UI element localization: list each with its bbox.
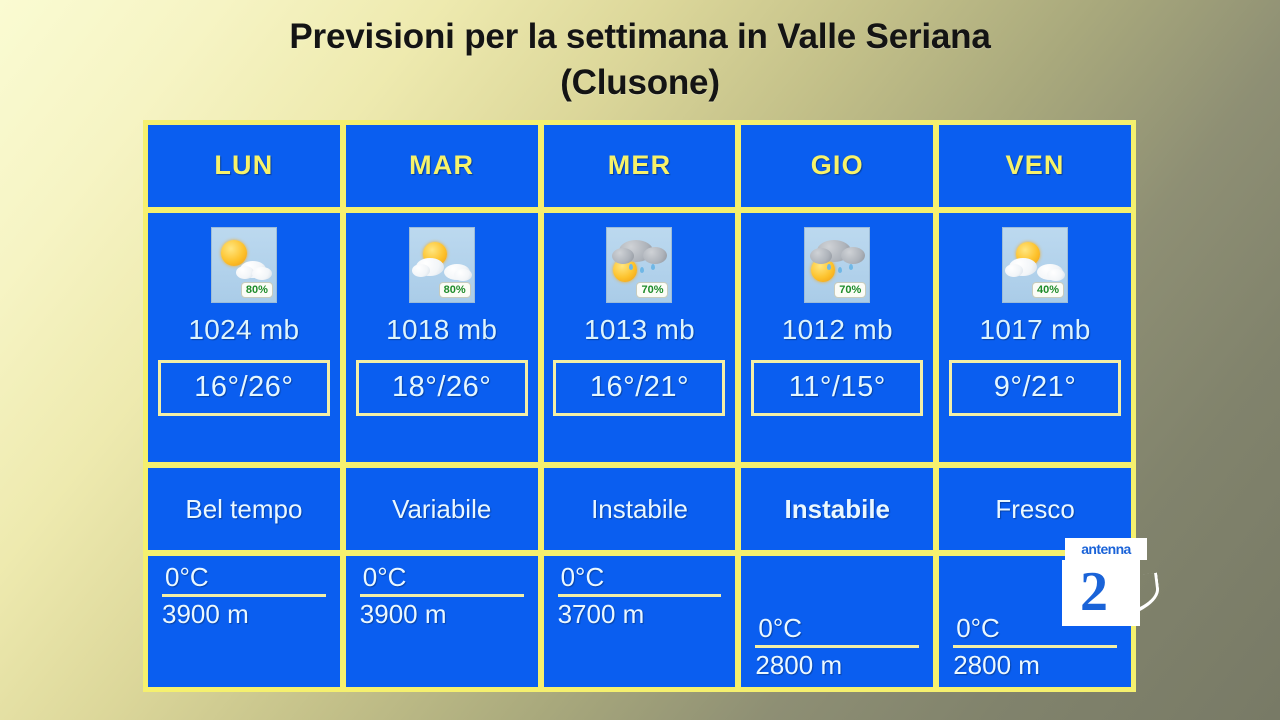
- day-header-cell-mar[interactable]: MAR: [346, 125, 538, 207]
- day-header-row: LUN MAR MER GIO VEN: [148, 125, 1131, 207]
- conditions-row: 80% 1024 mb 16°/26° 80% 1018 mb 18°/26°: [148, 213, 1131, 463]
- sun-shape: [221, 240, 247, 266]
- freezing-level-altitude: 3700 m: [558, 599, 722, 630]
- page-title-line-2: (Clusone): [0, 60, 1280, 106]
- day-header-cell-lun[interactable]: LUN: [148, 125, 340, 207]
- description-label: Bel tempo: [185, 494, 302, 525]
- description-label: Instabile: [785, 494, 890, 525]
- freezing-level-altitude: 2800 m: [755, 650, 919, 681]
- pressure-label: 1013 mb: [584, 314, 695, 346]
- conditions-cell-lun: 80% 1024 mb 16°/26°: [148, 213, 340, 463]
- raindrop-shape: [838, 267, 842, 273]
- day-name-label: MER: [608, 150, 672, 181]
- freezing-level-temp: 0°C: [558, 562, 722, 593]
- description-label: Fresco: [995, 494, 1074, 525]
- sun-behind-clouds-icon: 80%: [409, 227, 475, 303]
- raindrop-shape: [640, 267, 644, 273]
- cloud-shape: [643, 247, 667, 264]
- freezing-level-cell-lun: 0°C 3900 m: [148, 556, 340, 687]
- precipitation-badge: 40%: [1032, 282, 1064, 298]
- description-cell-mer: Instabile: [544, 468, 736, 550]
- temperature-box: 9°/21°: [949, 360, 1121, 416]
- divider-rule: [953, 645, 1117, 648]
- freezing-level-cell-mar: 0°C 3900 m: [346, 556, 538, 687]
- precipitation-badge: 70%: [636, 282, 668, 298]
- temperature-box: 16°/26°: [158, 360, 330, 416]
- precipitation-badge: 80%: [241, 282, 273, 298]
- freezing-level-row: 0°C 3900 m 0°C 3900 m 0°C 3700 m 0°C: [148, 556, 1131, 687]
- cloud-shape: [810, 248, 832, 264]
- sun-behind-rain-cloud-icon: 70%: [804, 227, 870, 303]
- freezing-level-temp: 0°C: [360, 562, 524, 593]
- freezing-level-altitude: 2800 m: [953, 650, 1117, 681]
- sun-behind-clouds-icon: 40%: [1002, 227, 1068, 303]
- precipitation-badge: 80%: [439, 282, 471, 298]
- cloud-shape: [1005, 264, 1023, 277]
- freezing-level-stack: 0°C 2800 m: [755, 613, 919, 681]
- conditions-cell-mar: 80% 1018 mb 18°/26°: [346, 213, 538, 463]
- day-header-cell-mer[interactable]: MER: [544, 125, 736, 207]
- pressure-label: 1017 mb: [980, 314, 1091, 346]
- raindrop-shape: [849, 264, 853, 270]
- freezing-level-altitude: 3900 m: [162, 599, 326, 630]
- divider-rule: [558, 594, 722, 597]
- temperature-label: 16°/26°: [194, 371, 293, 404]
- temperature-label: 11°/15°: [789, 371, 886, 404]
- day-name-label: GIO: [811, 150, 864, 181]
- conditions-cell-mer: 70% 1013 mb 16°/21°: [544, 213, 736, 463]
- freezing-level-stack: 0°C 3900 m: [360, 562, 524, 630]
- sun-behind-rain-cloud-icon: 70%: [606, 227, 672, 303]
- freezing-level-temp: 0°C: [162, 562, 326, 593]
- temperature-label: 18°/26°: [392, 371, 491, 404]
- pressure-label: 1018 mb: [386, 314, 497, 346]
- temperature-box: 18°/26°: [356, 360, 528, 416]
- antenna-wordmark-label: antenna: [1065, 538, 1147, 560]
- day-header-cell-gio[interactable]: GIO: [741, 125, 933, 207]
- freezing-level-cell-gio: 0°C 2800 m: [741, 556, 933, 687]
- day-name-label: VEN: [1006, 150, 1065, 181]
- antenna-2-logo: antenna 2: [1062, 538, 1158, 626]
- temperature-box: 11°/15°: [751, 360, 923, 416]
- page-title: Previsioni per la settimana in Valle Ser…: [0, 14, 1280, 106]
- conditions-cell-ven: 40% 1017 mb 9°/21°: [939, 213, 1131, 463]
- temperature-label: 16°/21°: [590, 371, 689, 404]
- description-label: Variabile: [392, 494, 491, 525]
- divider-rule: [360, 594, 524, 597]
- day-header-cell-ven[interactable]: VEN: [939, 125, 1131, 207]
- cloud-shape: [252, 267, 272, 280]
- cloud-shape: [1047, 269, 1065, 281]
- divider-rule: [162, 594, 326, 597]
- cloud-shape: [412, 264, 430, 277]
- description-label: Instabile: [591, 494, 688, 525]
- freezing-level-stack: 0°C 3700 m: [558, 562, 722, 630]
- freezing-level-cell-mer: 0°C 3700 m: [544, 556, 736, 687]
- pressure-label: 1012 mb: [782, 314, 893, 346]
- description-row: Bel tempo Variabile Instabile Instabile …: [148, 468, 1131, 550]
- cloud-shape: [841, 247, 865, 264]
- conditions-cell-gio: 70% 1012 mb 11°/15°: [741, 213, 933, 463]
- description-cell-gio: Instabile: [741, 468, 933, 550]
- page-title-line-1: Previsioni per la settimana in Valle Ser…: [289, 17, 990, 56]
- cloud-shape: [454, 269, 472, 281]
- description-cell-lun: Bel tempo: [148, 468, 340, 550]
- raindrop-shape: [651, 264, 655, 270]
- weekly-forecast-table: LUN MAR MER GIO VEN 80% 1024 mb: [143, 120, 1136, 692]
- antenna-number-label: 2: [1080, 564, 1108, 620]
- freezing-level-temp: 0°C: [755, 613, 919, 644]
- freezing-level-altitude: 3900 m: [360, 599, 524, 630]
- sun-with-cloud-icon: 80%: [211, 227, 277, 303]
- freezing-level-stack: 0°C 3900 m: [162, 562, 326, 630]
- day-name-label: LUN: [214, 150, 273, 181]
- description-cell-mar: Variabile: [346, 468, 538, 550]
- day-name-label: MAR: [409, 150, 474, 181]
- temperature-box: 16°/21°: [553, 360, 725, 416]
- pressure-label: 1024 mb: [188, 314, 299, 346]
- precipitation-badge: 70%: [834, 282, 866, 298]
- temperature-label: 9°/21°: [994, 371, 1077, 404]
- divider-rule: [755, 645, 919, 648]
